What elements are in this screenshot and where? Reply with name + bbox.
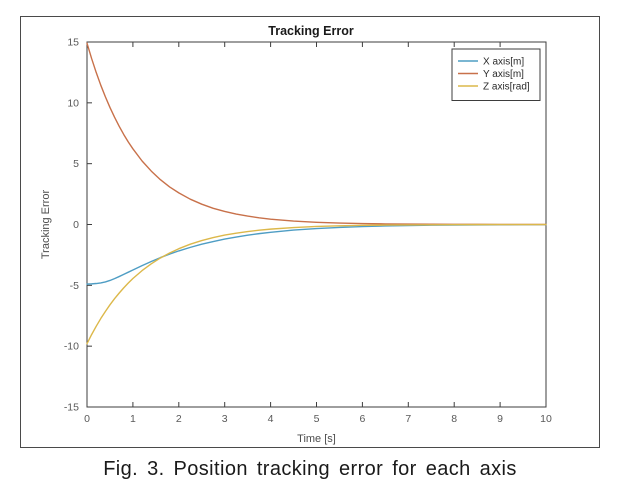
figure-root: Tracking Error -15-10-5051015 0123456789…: [0, 0, 620, 504]
x-tick-label: 0: [84, 413, 90, 425]
chart-title: Tracking Error: [268, 24, 354, 38]
y-tick-label: -5: [70, 280, 79, 292]
x-tick-label: 8: [451, 413, 457, 425]
y-tick-label: -15: [64, 402, 79, 414]
x-tick-label: 9: [497, 413, 503, 425]
x-tick-label: 4: [268, 413, 274, 425]
x-tick-label: 2: [176, 413, 182, 425]
x-tick-label: 5: [314, 413, 320, 425]
series-line: [87, 225, 546, 284]
x-tick-label: 7: [405, 413, 411, 425]
tracking-error-chart: Tracking Error -15-10-5051015 0123456789…: [21, 17, 601, 447]
y-axis-title: Tracking Error: [40, 190, 52, 260]
y-tick-label: 5: [73, 158, 79, 170]
y-tick-label: 10: [67, 97, 79, 109]
legend-label: Y axis[m]: [483, 69, 524, 80]
x-tick-label: 6: [359, 413, 365, 425]
y-tick-label: 0: [73, 219, 79, 231]
figure-caption: Fig. 3. Position tracking error for each…: [0, 458, 620, 481]
y-axis-ticks: -15-10-5051015: [64, 37, 92, 414]
x-tick-label: 3: [222, 413, 228, 425]
y-tick-label: 15: [67, 37, 79, 49]
series-line: [87, 225, 546, 344]
y-tick-label: -10: [64, 341, 79, 353]
chart-legend: X axis[m]Y axis[m]Z axis[rad]: [452, 49, 540, 101]
legend-label: Z axis[rad]: [483, 82, 530, 93]
x-tick-label: 1: [130, 413, 136, 425]
legend-label: X axis[m]: [483, 57, 524, 68]
x-axis-title: Time [s]: [297, 433, 336, 445]
x-tick-label: 10: [540, 413, 552, 425]
figure-frame: Tracking Error -15-10-5051015 0123456789…: [20, 16, 600, 448]
